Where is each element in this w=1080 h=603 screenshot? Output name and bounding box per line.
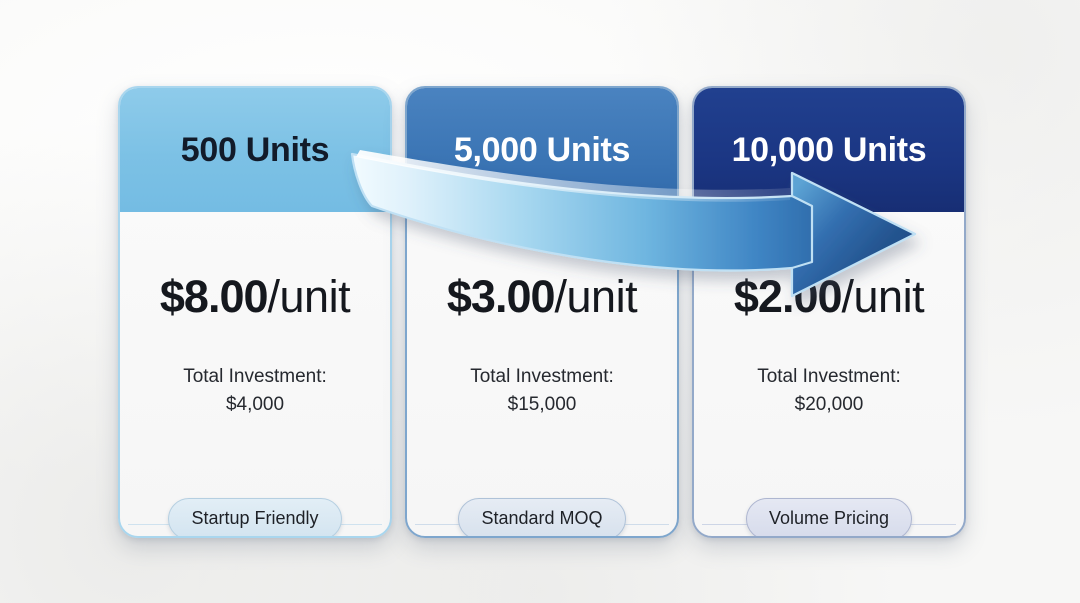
- pricing-card-group: 500 Units $8.00/unit Total Investment: $…: [0, 0, 1080, 603]
- badge-container: Volume Pricing: [694, 498, 964, 538]
- card-header-label: 5,000 Units: [454, 131, 630, 170]
- unit-price: $2.00/unit: [734, 274, 924, 319]
- badge-container: Startup Friendly: [120, 498, 390, 538]
- total-investment-label: Total Investment:: [757, 366, 901, 387]
- unit-price-amount: $8.00: [160, 271, 268, 322]
- card-header-label: 500 Units: [181, 131, 329, 170]
- card-body-tier-500: $8.00/unit Total Investment: $4,000 Star…: [120, 212, 390, 536]
- total-investment-value: $15,000: [470, 391, 614, 419]
- unit-price: $8.00/unit: [160, 274, 350, 319]
- card-body-tier-10000: $2.00/unit Total Investment: $20,000 Vol…: [694, 212, 964, 536]
- card-header-label: 10,000 Units: [732, 131, 927, 170]
- total-investment: Total Investment: $4,000: [183, 363, 327, 418]
- total-investment-value: $20,000: [757, 391, 901, 419]
- status-badge[interactable]: Standard MOQ: [458, 498, 625, 538]
- badge-container: Standard MOQ: [407, 498, 677, 538]
- pricing-card-tier-500[interactable]: 500 Units $8.00/unit Total Investment: $…: [118, 86, 392, 538]
- pricing-card-tier-10000[interactable]: 10,000 Units $2.00/unit Total Investment…: [692, 86, 966, 538]
- status-badge[interactable]: Volume Pricing: [746, 498, 912, 538]
- total-investment-label: Total Investment:: [183, 366, 327, 387]
- total-investment-value: $4,000: [183, 391, 327, 419]
- card-header-tier-500: 500 Units: [120, 88, 390, 212]
- unit-price-suffix: /unit: [555, 271, 638, 322]
- total-investment: Total Investment: $15,000: [470, 363, 614, 418]
- total-investment-label: Total Investment:: [470, 366, 614, 387]
- unit-price-suffix: /unit: [268, 271, 351, 322]
- pricing-card-tier-5000[interactable]: 5,000 Units $3.00/unit Total Investment:…: [405, 86, 679, 538]
- unit-price: $3.00/unit: [447, 274, 637, 319]
- status-badge[interactable]: Startup Friendly: [168, 498, 341, 538]
- unit-price-amount: $2.00: [734, 271, 842, 322]
- card-header-tier-5000: 5,000 Units: [407, 88, 677, 212]
- unit-price-amount: $3.00: [447, 271, 555, 322]
- pricing-tier-graphic: 500 Units $8.00/unit Total Investment: $…: [0, 0, 1080, 603]
- unit-price-suffix: /unit: [842, 271, 925, 322]
- card-header-tier-10000: 10,000 Units: [694, 88, 964, 212]
- card-body-tier-5000: $3.00/unit Total Investment: $15,000 Sta…: [407, 212, 677, 536]
- total-investment: Total Investment: $20,000: [757, 363, 901, 418]
